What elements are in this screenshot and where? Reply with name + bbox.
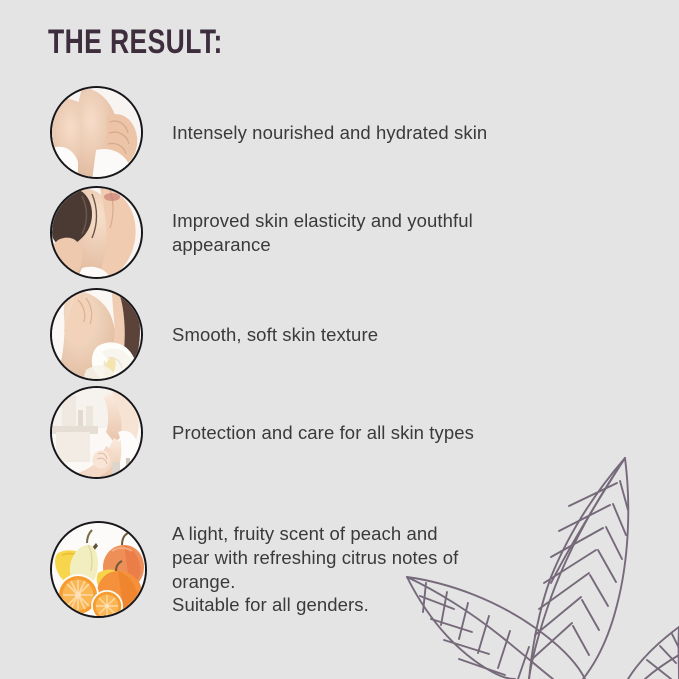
skin-with-white-calla-lily-flower-photo: [52, 290, 141, 379]
benefit-thumbnail: [50, 521, 147, 618]
benefit-thumbnail: [50, 288, 143, 381]
woman-applying-lotion-to-shoulder-photo: [52, 88, 141, 177]
list-item: Smooth, soft skin texture: [50, 288, 378, 381]
benefit-thumbnail: [50, 86, 143, 179]
fruit-assortment-peach-pear-orange-banana-photo: [52, 523, 145, 616]
list-item: Intensely nourished and hydrated skin: [50, 86, 487, 179]
woman-neck-and-shoulder-skin-photo: [52, 188, 141, 277]
list-item: Protection and care for all skin types: [50, 386, 474, 479]
benefit-text: Intensely nourished and hydrated skin: [172, 121, 487, 145]
result-benefits-poster: THE RESULT:: [0, 0, 679, 679]
list-item: Improved skin elasticity and youthful ap…: [50, 186, 473, 279]
benefit-thumbnail: [50, 386, 143, 479]
list-item: A light, fruity scent of peach and pear …: [50, 521, 458, 618]
benefits-list: Intensely nourished and hydrated skin: [0, 0, 679, 679]
woman-applying-lotion-to-leg-photo: [52, 388, 141, 477]
benefit-text: Protection and care for all skin types: [172, 421, 474, 445]
benefit-thumbnail: [50, 186, 143, 279]
benefit-text: Smooth, soft skin texture: [172, 323, 378, 347]
benefit-text: Improved skin elasticity and youthful ap…: [172, 209, 473, 256]
benefit-text: A light, fruity scent of peach and pear …: [172, 522, 458, 617]
